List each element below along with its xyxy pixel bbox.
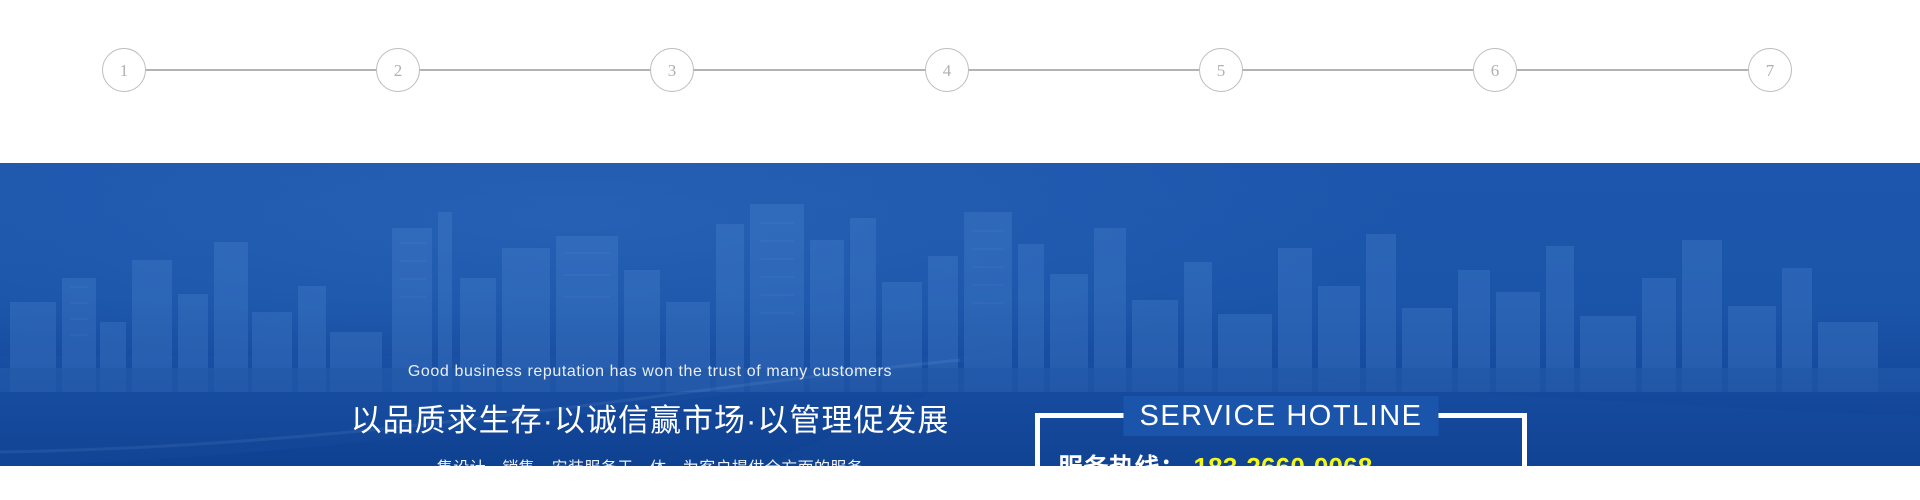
hotline-number-mobile[interactable]: 183-2660-0068 bbox=[1194, 452, 1373, 466]
service-hotline-title: SERVICE HOTLINE bbox=[1123, 396, 1438, 436]
step-circle-2[interactable]: 2 bbox=[376, 48, 420, 92]
slogan-chinese-subline: 集设计、销售、安装服务于一体，为客户提供全方面的服务 bbox=[250, 454, 1050, 466]
slogan-english-line: Good business reputation has won the tru… bbox=[250, 363, 1050, 381]
step-circle-7[interactable]: 7 bbox=[1748, 48, 1792, 92]
step-label-2: 2 bbox=[394, 62, 403, 79]
promo-banner: Good business reputation has won the tru… bbox=[0, 163, 1920, 466]
step-label-7: 7 bbox=[1766, 62, 1775, 79]
hotline-label: 服务热线： bbox=[1058, 448, 1186, 466]
page-root: 1 2 3 4 5 6 7 bbox=[0, 0, 1920, 500]
step-circle-5[interactable]: 5 bbox=[1199, 48, 1243, 92]
step-label-3: 3 bbox=[668, 62, 677, 79]
slogan-block: Good business reputation has won the tru… bbox=[250, 363, 1050, 466]
step-label-1: 1 bbox=[120, 62, 129, 79]
step-label-5: 5 bbox=[1217, 62, 1226, 79]
step-circle-3[interactable]: 3 bbox=[650, 48, 694, 92]
hotline-number-list: 服务热线： 183-2660-0068 0551-63749777 bbox=[1040, 448, 1522, 466]
service-hotline-box: SERVICE HOTLINE 服务热线： 183-2660-0068 0551… bbox=[1035, 413, 1527, 466]
step-label-4: 4 bbox=[943, 62, 952, 79]
step-label-6: 6 bbox=[1491, 62, 1500, 79]
step-circle-6[interactable]: 6 bbox=[1473, 48, 1517, 92]
step-circle-4[interactable]: 4 bbox=[925, 48, 969, 92]
step-circle-1[interactable]: 1 bbox=[102, 48, 146, 92]
slogan-chinese-headline: 以品质求生存·以诚信赢市场·以管理促发展 bbox=[250, 395, 1050, 440]
step-progress-bar: 1 2 3 4 5 6 7 bbox=[0, 0, 1920, 163]
hotline-row-primary: 服务热线： 183-2660-0068 bbox=[1058, 448, 1504, 466]
